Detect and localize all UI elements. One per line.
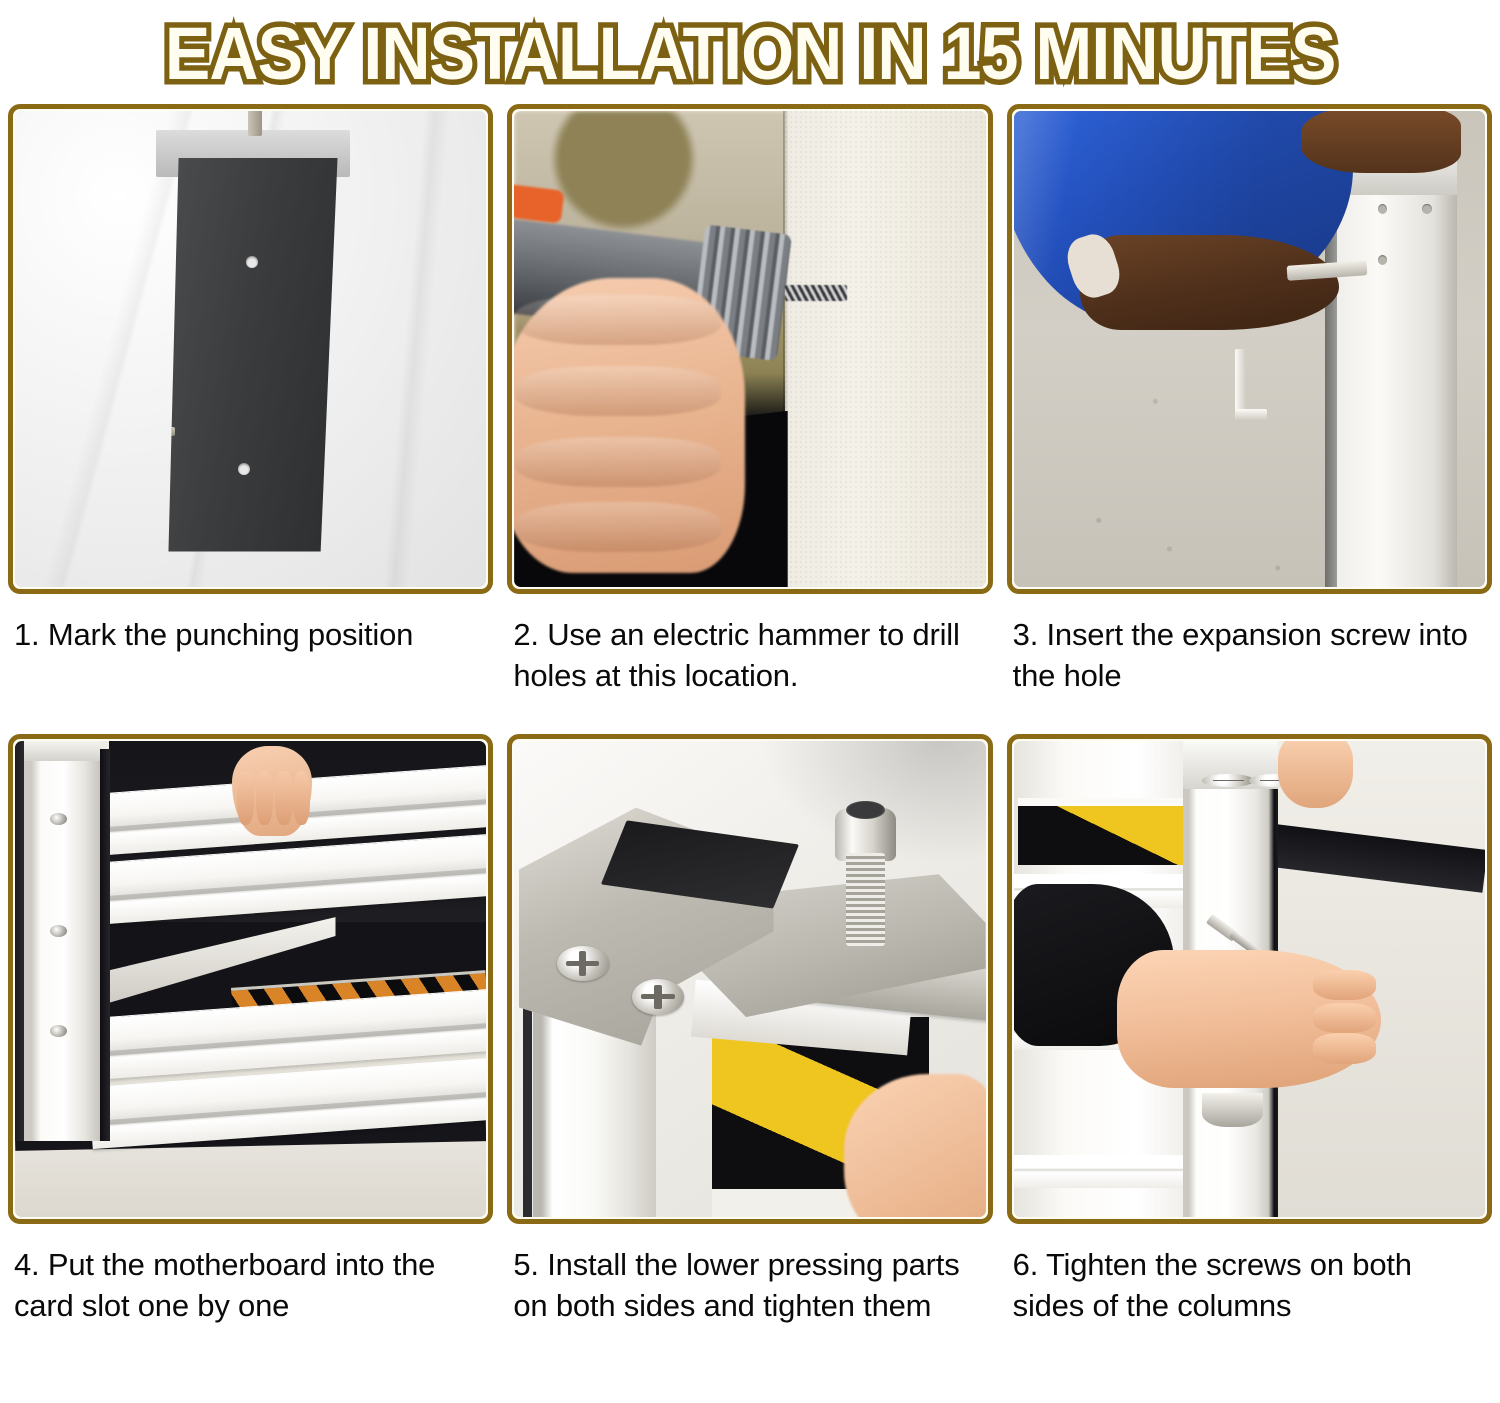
drill-hole-upper — [246, 256, 258, 268]
step-card-5: 5. Install the lower pressing parts on b… — [507, 734, 992, 1374]
hand-holding-post — [1278, 741, 1353, 808]
step-5-caption: 5. Install the lower pressing parts on b… — [507, 1224, 992, 1374]
steps-grid: 1. Mark the punching position 2. Use an … — [0, 104, 1500, 1374]
step-card-3: 3. Insert the expansion screw into the h… — [1007, 104, 1492, 734]
step-2-photo-frame — [507, 104, 992, 594]
hazard-stripe-yellow — [1018, 798, 1188, 865]
step-6-photo-frame — [1007, 734, 1492, 1224]
textured-wall — [785, 111, 985, 587]
step-5-photo-frame — [507, 734, 992, 1224]
worker-hand — [1080, 235, 1339, 330]
post-screw — [50, 1025, 67, 1037]
step-4-photo-frame — [8, 734, 493, 1224]
expansion-screw-photo — [1014, 111, 1485, 587]
step-card-1: 1. Mark the punching position — [8, 104, 493, 734]
post-screw — [50, 813, 67, 825]
step-3-caption: 3. Insert the expansion screw into the h… — [1007, 594, 1492, 734]
step-card-2: 2. Use an electric hammer to drill holes… — [507, 104, 992, 734]
step-card-6: 6. Tighten the screws on both sides of t… — [1007, 734, 1492, 1374]
pressing-bracket-photo — [514, 741, 985, 1217]
allen-key-icon — [1221, 349, 1263, 420]
step-3-photo-frame — [1007, 104, 1492, 594]
drill-trigger — [514, 183, 565, 223]
step-2-caption: 2. Use an electric hammer to drill holes… — [507, 594, 992, 734]
drill-bit-icon — [785, 285, 846, 301]
threaded-bolt-icon — [835, 808, 896, 941]
worker-far-arm — [1301, 111, 1461, 173]
barrier-column — [161, 130, 345, 554]
hand-holding-drill — [514, 278, 745, 573]
column-marking-photo — [15, 111, 486, 587]
top-screw-icon — [1202, 774, 1254, 786]
hand-placing-board — [232, 746, 312, 836]
phillips-screw-icon — [632, 979, 684, 1015]
drill-wall-photo — [514, 111, 985, 587]
phillips-screw-icon — [557, 946, 609, 982]
step-card-4: 4. Put the motherboard into the card slo… — [8, 734, 493, 1374]
post-screw — [50, 925, 67, 937]
lower-fitting — [1202, 1093, 1263, 1126]
page-title: EASY INSTALLATION IN 15 MINUTES — [165, 17, 1336, 91]
step-1-caption: 1. Mark the punching position — [8, 594, 493, 734]
drill-hole-lower — [238, 463, 250, 475]
top-bolt-icon — [248, 111, 263, 136]
step-6-caption: 6. Tighten the screws on both sides of t… — [1007, 1224, 1492, 1374]
hand-tightening-screw — [1117, 950, 1381, 1088]
header-banner: EASY INSTALLATION IN 15 MINUTES — [0, 0, 1500, 104]
step-4-caption: 4. Put the motherboard into the card slo… — [8, 1224, 493, 1374]
step-1-photo-frame — [8, 104, 493, 594]
slotted-post — [24, 741, 99, 1141]
column-body — [168, 158, 337, 552]
insert-boards-photo — [15, 741, 486, 1217]
tighten-screws-photo — [1014, 741, 1485, 1217]
